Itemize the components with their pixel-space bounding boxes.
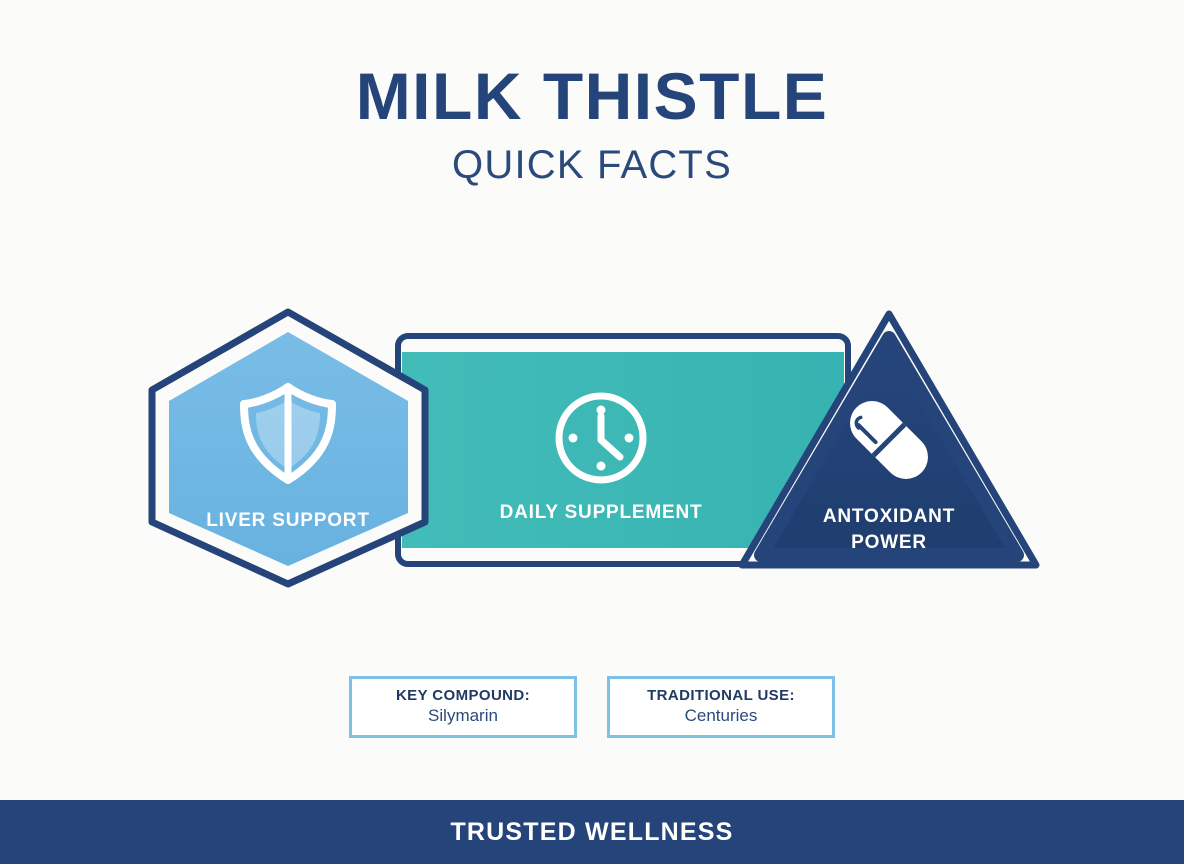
page-subtitle: QUICK FACTS [0,145,1184,185]
band-label: DAILY SUPPLEMENT [500,502,703,523]
triangle-label-line1: ANTOXIDANT [823,506,955,527]
fact-box-key-compound[interactable]: KEY COMPOUND: Silymarin [349,676,577,738]
fact-value: Centuries [685,705,758,727]
page-header: MILK THISTLE QUICK FACTS [0,62,1184,185]
infographic-diagram: DAILY SUPPLEMENT LIVER SUPPORT [0,300,1184,600]
shape-liver-support[interactable]: LIVER SUPPORT [152,312,425,584]
fact-box-row: KEY COMPOUND: Silymarin TRADITIONAL USE:… [0,676,1184,738]
triangle-label-line2: POWER [851,532,927,553]
fact-box-traditional-use[interactable]: TRADITIONAL USE: Centuries [607,676,835,738]
footer-text: TRUSTED WELLNESS [450,818,733,847]
hexagon-label: LIVER SUPPORT [206,510,369,531]
fact-label: TRADITIONAL USE: [647,687,795,706]
fact-value: Silymarin [428,705,498,727]
fact-label: KEY COMPOUND: [396,687,530,706]
footer-bar: TRUSTED WELLNESS [0,800,1184,864]
page-title: MILK THISTLE [0,62,1184,131]
clock-icon [559,396,643,480]
